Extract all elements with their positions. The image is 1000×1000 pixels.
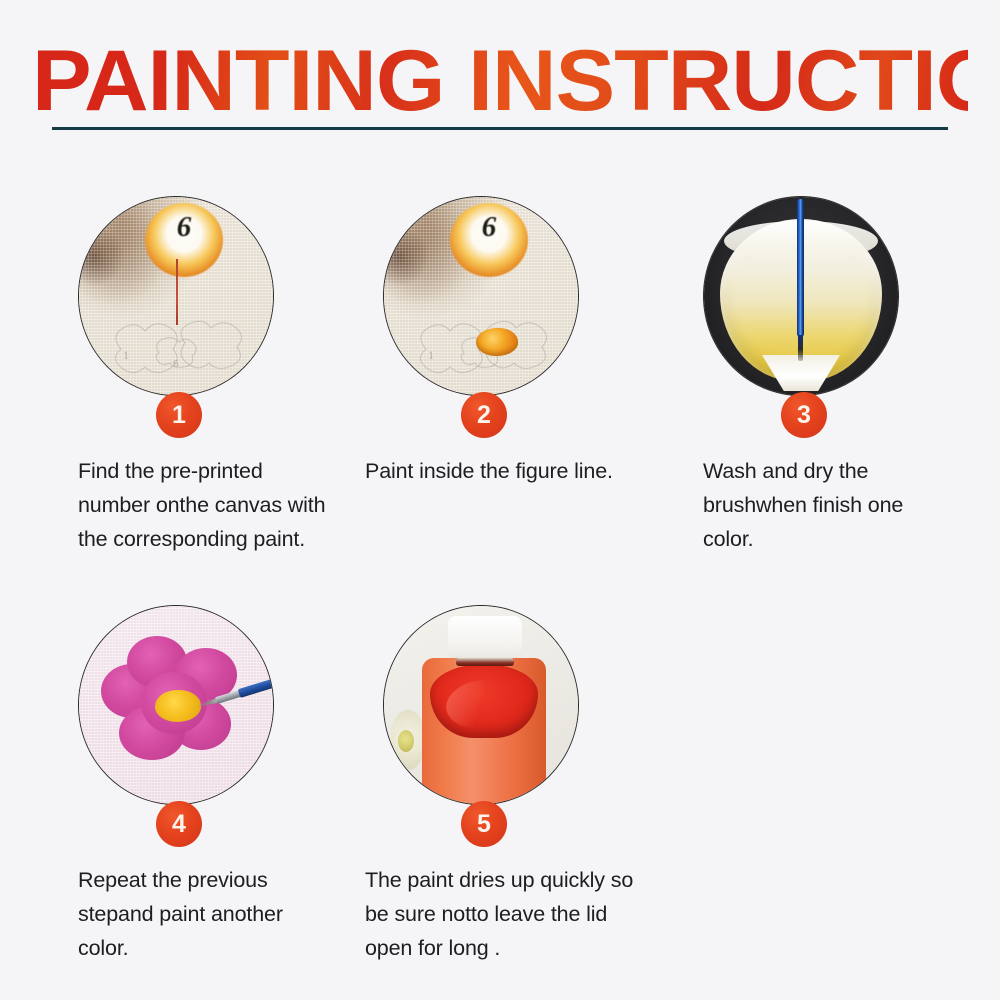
- blue-brush-icon: [797, 199, 804, 337]
- step-photo-2: 1 6: [383, 196, 579, 396]
- pointer-line-icon: [176, 259, 178, 325]
- step-photo-wrap-1: 1 6 6 1: [30, 196, 330, 444]
- step-card-1: 1 6 6 1 Find the pre-printed number onth…: [30, 196, 330, 556]
- step-photo-1: 1 6 6: [78, 196, 274, 396]
- step-caption-3: Wash and dry the brushwhen finish one co…: [655, 454, 943, 556]
- canvas-number-left-2: 1: [428, 348, 434, 362]
- step-card-2: 1 6 2 Paint inside the figure line.: [335, 196, 635, 488]
- step-photo-wrap-5: 5: [335, 605, 635, 853]
- step-badge-1: 1: [156, 392, 202, 438]
- step-badge-3: 3: [781, 392, 827, 438]
- header: PAINTING INSTRUCTION: [0, 0, 1000, 150]
- step-card-5: 5 The paint dries up quickly so be sure …: [335, 605, 635, 965]
- step-caption-5: The paint dries up quickly so be sure no…: [335, 863, 641, 965]
- flower-center-icon: [155, 690, 201, 722]
- paint-pot-icon-1: 6: [145, 203, 223, 277]
- step-card-3: 3 Wash and dry the brushwhen finish one …: [655, 196, 955, 556]
- canvas-number-target-1: 6: [173, 358, 179, 370]
- orange-paint-blob-icon: [476, 328, 518, 356]
- step-photo-3: [703, 196, 899, 396]
- canvas-number-left-1: 1: [123, 348, 129, 362]
- step-photo-wrap-4: 4: [30, 605, 330, 853]
- step-photo-wrap-2: 1 6 2: [335, 196, 635, 444]
- paint-pot-number-1: 6: [145, 211, 223, 244]
- brush-tip-icon: [798, 335, 803, 361]
- step-caption-4: Repeat the previous stepand paint anothe…: [30, 863, 328, 965]
- paint-pot-number-2: 6: [450, 211, 528, 244]
- step-caption-2: Paint inside the figure line.: [335, 454, 637, 488]
- step-caption-1: Find the pre-printed number onthe canvas…: [30, 454, 328, 556]
- page-title: PAINTING INSTRUCTION: [32, 38, 968, 124]
- printed-outline-icon: 1 6: [101, 309, 257, 383]
- pot-hinge-icon: [456, 658, 514, 666]
- step-badge-2: 2: [461, 392, 507, 438]
- step-photo-4: [78, 605, 274, 805]
- background-object-icon: [398, 730, 414, 752]
- step-badge-4: 4: [156, 801, 202, 847]
- paint-pot-icon-2: 6: [450, 203, 528, 277]
- step-card-4: 4 Repeat the previous stepand paint anot…: [30, 605, 330, 965]
- step-badge-5: 5: [461, 801, 507, 847]
- title-underline: [52, 127, 948, 130]
- step-photo-5: [383, 605, 579, 805]
- step-photo-wrap-3: 3: [655, 196, 955, 444]
